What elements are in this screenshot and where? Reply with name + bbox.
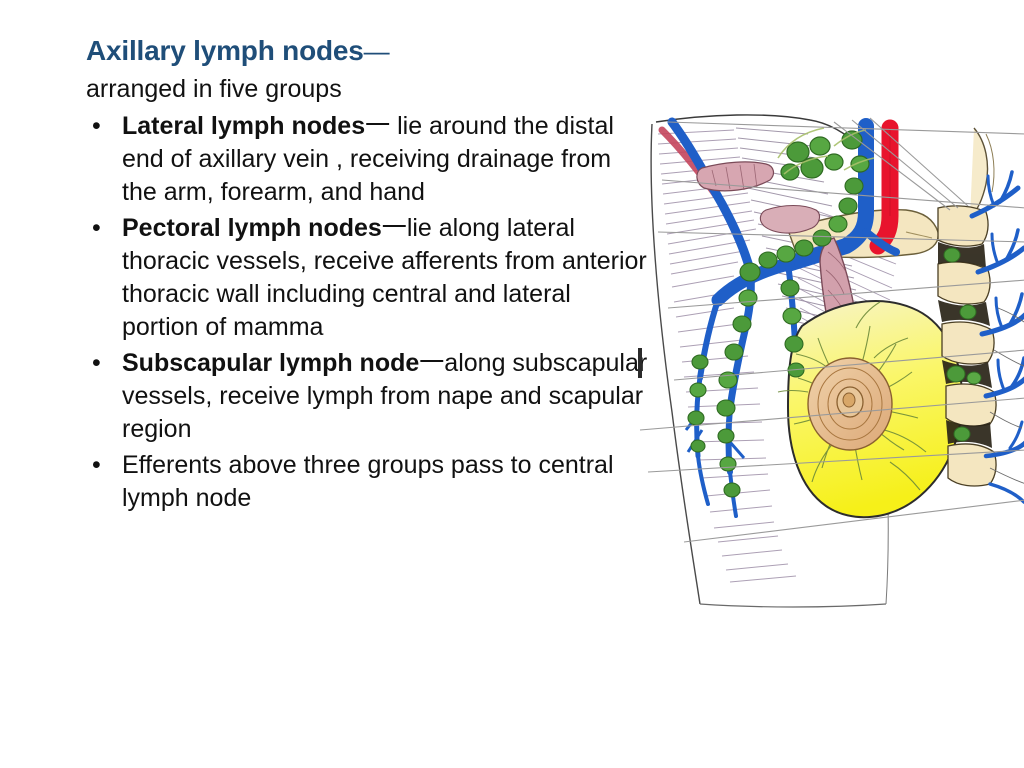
list-item-dash: 一 — [419, 349, 444, 377]
page-title: Axillary lymph nodes— — [86, 34, 652, 68]
bullet-marker: • — [92, 347, 101, 380]
coracobrachialis-muscle — [760, 206, 819, 234]
bullet-marker: • — [92, 449, 101, 482]
axillary-artery — [878, 128, 890, 246]
page-title-text: Axillary lymph nodes — [86, 35, 364, 66]
list-item: • Pectoral lymph nodes一lie along lateral… — [86, 212, 652, 344]
bullet-marker: • — [92, 110, 101, 143]
list-item: • Subscapular lymph node一along subscapul… — [86, 347, 652, 446]
mamma — [778, 301, 962, 517]
biceps-muscle-slip — [697, 162, 774, 191]
text-content-column: Axillary lymph nodes— arranged in five g… — [86, 34, 652, 518]
list-item-dash: 一 — [382, 214, 407, 242]
anatomy-figure — [638, 112, 1024, 612]
left-edge-tick — [638, 348, 642, 378]
page-subtitle: arranged in five groups — [86, 72, 652, 106]
slide-canvas: Axillary lymph nodes— arranged in five g… — [0, 0, 1024, 768]
list-item-term: Pectoral lymph nodes — [122, 214, 382, 242]
list-item: • Lateral lymph nodes一 lie around the di… — [86, 110, 652, 209]
list-item-dash: 一 — [365, 112, 390, 140]
axilla-lymphatic-drainage-illustration — [638, 112, 1024, 612]
list-item-term: Subscapular lymph node — [122, 349, 419, 377]
bullet-marker: • — [92, 212, 101, 245]
list-item-term: Lateral lymph nodes — [122, 112, 365, 140]
page-title-dash: — — [364, 36, 390, 66]
list-item-text: Efferents above three groups pass to cen… — [122, 451, 614, 512]
list-item: • Efferents above three groups pass to c… — [86, 449, 652, 515]
areola — [808, 358, 892, 450]
bullet-list: • Lateral lymph nodes一 lie around the di… — [86, 110, 652, 515]
